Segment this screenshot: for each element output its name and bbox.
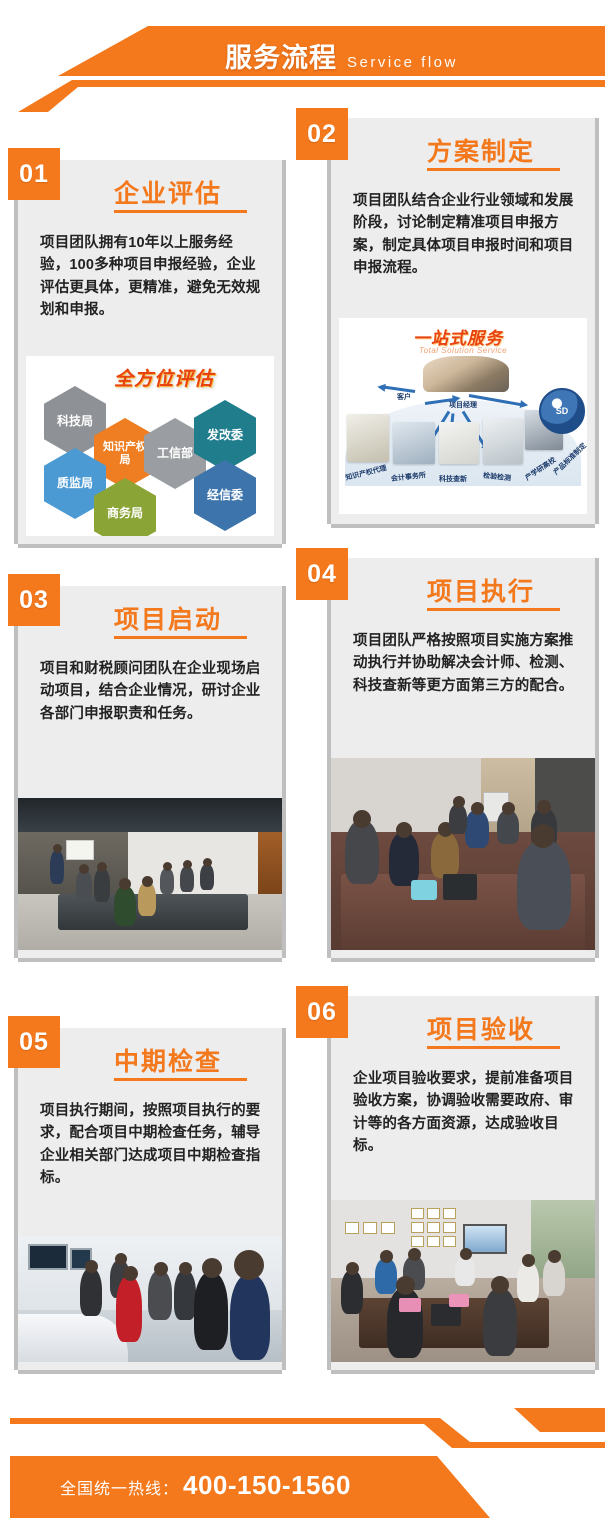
card-06-body: 企业项目验收要求，提前准备项目验收方案，协调验收需要政府、审计等的各方面资源，达… (353, 1068, 575, 1158)
one-stop-node-label-2: 科技查新 (439, 474, 467, 484)
step-card-05: 中期检查 项目执行期间，按照项目执行的要求，配合项目中期检查任务，辅导企业相关部… (18, 1028, 282, 1370)
card-06-title-rule (427, 1046, 560, 1049)
one-stop-standard-seal: SD (539, 388, 585, 434)
page-header: 服务流程 Service flow (0, 0, 605, 112)
hotline: 全国统一热线： 400-150-1560 (60, 1470, 351, 1501)
one-stop-node-testing (483, 418, 523, 464)
card-01-title-rule (114, 210, 247, 213)
one-stop-subtitle: Total Solution Service (419, 346, 507, 355)
card-05-title-rule (114, 1078, 247, 1081)
hotline-number[interactable]: 400-150-1560 (183, 1470, 351, 1501)
card-02-number-badge: 02 (296, 108, 348, 160)
step-card-06: 项目验收 企业项目验收要求，提前准备项目验收方案，协调验收需要政府、审计等的各方… (331, 996, 595, 1370)
card-03-title: 项目启动 (114, 600, 222, 636)
step-card-02: 方案制定 项目团队结合企业行业领域和发展阶段，讨论制定精准项目申报方案，制定具体… (331, 118, 595, 524)
all-round-assessment-diagram: 全方位评估 科技局 知识产权局 质监局 工信部 商务局 发改委 经信委 (26, 356, 274, 536)
step-card-04: 项目执行 项目团队严格按照项目实施方案推动执行并协助解决会计师、检测、科技查新等… (331, 558, 595, 958)
card-02-title: 方案制定 (427, 132, 535, 168)
page-title-en: Service flow (347, 54, 458, 71)
card-06-title: 项目验收 (427, 1010, 535, 1046)
card-05-body: 项目执行期间，按照项目执行的要求，配合项目中期检查任务，辅导企业相关部门达成项目… (40, 1100, 262, 1190)
page-footer: 全国统一热线： 400-150-1560 (0, 1408, 605, 1538)
card-03-body: 项目和财税顾问团队在企业现场启动项目，结合企业情况，研讨企业各部门申报职责和任务… (40, 658, 262, 725)
showroom-visit-photo (18, 1236, 282, 1362)
card-05-title: 中期检查 (114, 1042, 222, 1078)
card-04-body: 项目团队严格按照项目实施方案推动执行并协助解决会计师、检测、科技查新等更方面第三… (353, 630, 575, 697)
card-04-title-rule (427, 608, 560, 611)
card-04-number-badge: 04 (296, 548, 348, 600)
page-title: 服务流程 Service flow (225, 36, 458, 75)
card-02-title-rule (427, 168, 560, 171)
page-title-cn: 服务流程 (225, 36, 337, 75)
assessment-diagram-title: 全方位评估 (114, 364, 214, 391)
card-01-title: 企业评估 (114, 174, 222, 210)
acceptance-meeting-photo (331, 1200, 595, 1362)
conference-room-kickoff-photo (18, 798, 282, 950)
hotline-label: 全国统一热线： (60, 1475, 179, 1499)
one-stop-team-photo (423, 356, 509, 392)
one-stop-client-label: 客户 (397, 392, 411, 402)
one-stop-node-accounting (393, 422, 435, 464)
card-02-body: 项目团队结合企业行业领域和发展阶段，讨论制定精准项目申报方案，制定具体项目申报时… (353, 190, 575, 280)
working-meeting-photo (331, 758, 595, 950)
service-flow-poster: 服务流程 Service flow 企业评估 项目团队拥有10年以上服务经验，1… (0, 0, 605, 1538)
card-03-number-badge: 03 (8, 574, 60, 626)
card-01-number-badge: 01 (8, 148, 60, 200)
step-card-03: 项目启动 项目和财税顾问团队在企业现场启动项目，结合企业情况，研讨企业各部门申报… (18, 586, 282, 958)
card-01-body: 项目团队拥有10年以上服务经验，100多种项目申报经验，企业评估更具体，更精准，… (40, 232, 262, 322)
card-05-number-badge: 05 (8, 1016, 60, 1068)
card-04-title: 项目执行 (427, 572, 535, 608)
card-06-number-badge: 06 (296, 986, 348, 1038)
one-stop-node-ip (347, 414, 389, 462)
step-card-01: 企业评估 项目团队拥有10年以上服务经验，100多种项目申报经验，企业评估更具体… (18, 160, 282, 544)
one-stop-service-diagram: 一站式服务 Total Solution Service 客户 项目经理 SD … (339, 318, 587, 514)
footer-orange-stripe (0, 1418, 605, 1448)
one-stop-node-novelty (439, 422, 479, 464)
card-03-title-rule (114, 636, 247, 639)
